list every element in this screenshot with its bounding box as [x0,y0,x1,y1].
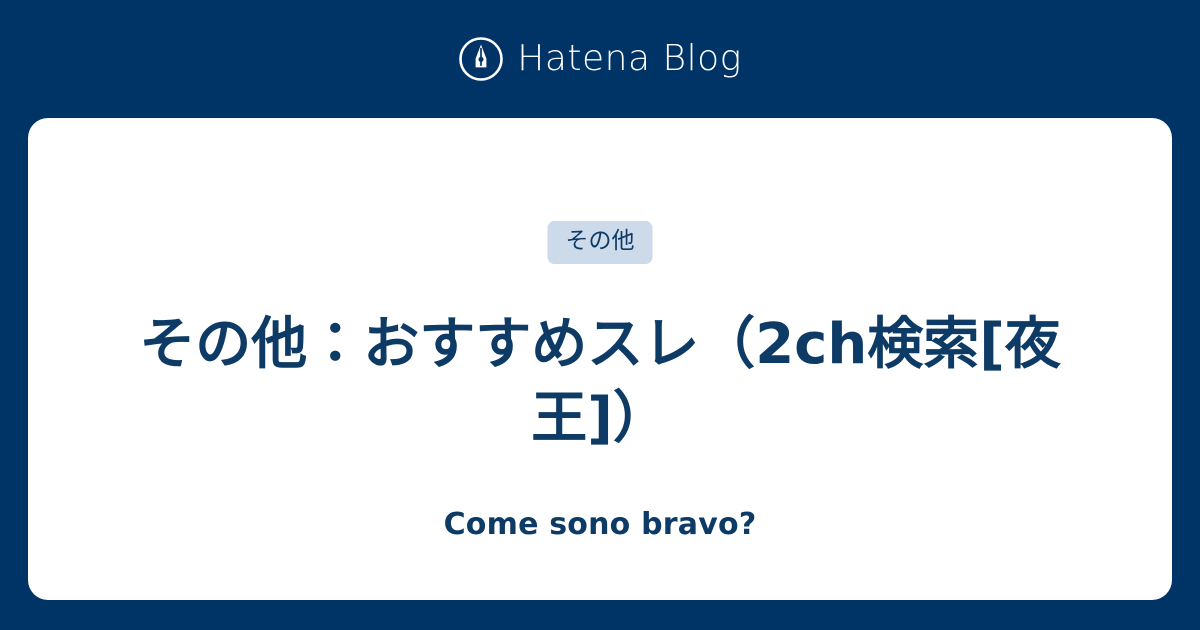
entry-title: その他：おすすめスレ（2ch検索[夜王]） [88,308,1112,457]
ogp-card-root: Hatena Blog その他 その他：おすすめスレ（2ch検索[夜王]） Co… [0,0,1200,630]
pen-nib-circle-icon [458,36,504,82]
hatena-logo [458,36,504,82]
content-card-inner: その他 その他：おすすめスレ（2ch検索[夜王]） Come sono brav… [28,118,1172,600]
brand-name-label: Hatena Blog [517,41,741,77]
category-badge[interactable]: その他 [548,221,653,264]
blog-title: Come sono bravo? [444,510,757,540]
brand-header: Hatena Blog [0,0,1200,118]
content-card: その他 その他：おすすめスレ（2ch検索[夜王]） Come sono brav… [28,118,1172,600]
